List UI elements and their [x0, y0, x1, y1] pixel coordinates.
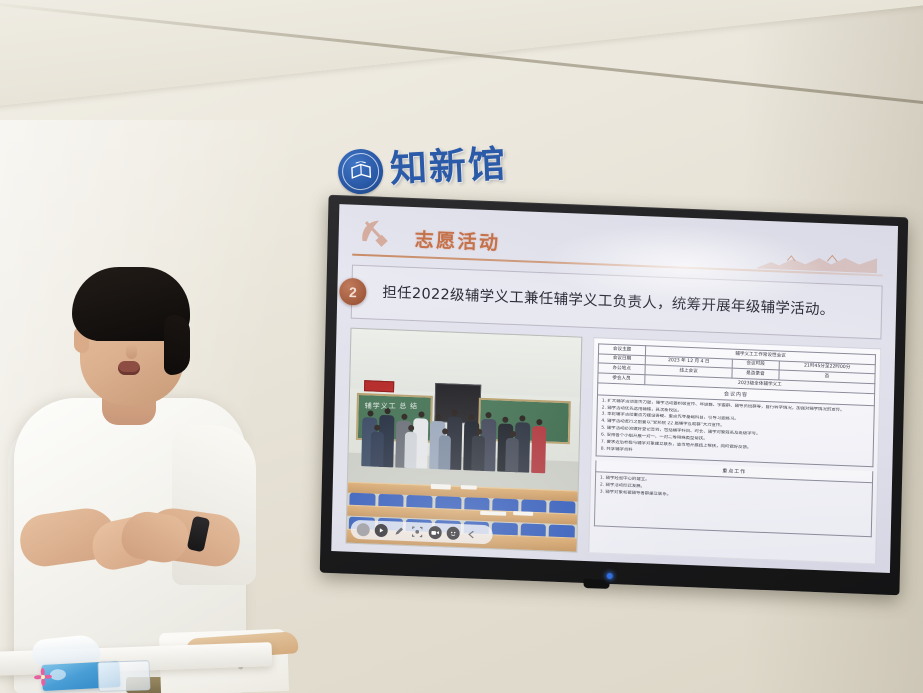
- display-ir-sensor: [583, 579, 609, 589]
- exit-sign-icon: [364, 381, 394, 393]
- classroom-scene: 知新馆 志愿活动: [0, 0, 923, 693]
- meeting-minutes-document: 会议主题 辅学义工工作常设性会议 会议日期 2023 年 12 月 4 日 会议…: [588, 337, 881, 564]
- bullet-text: 担任2022级辅学义工兼任辅学义工负责人，统筹开展年级辅学活动。: [382, 283, 835, 320]
- display-bezel: 志愿活动 2 担任2022级辅学义工兼任辅学义工负责人，统筹开展年级辅学活动。: [320, 195, 909, 596]
- power-led-indicator: [607, 573, 613, 579]
- classroom-group-photo: 辅学义工 总 结: [345, 328, 582, 553]
- open-book-icon: [349, 161, 372, 182]
- display-screen[interactable]: 志愿活动 2 担任2022级辅学义工兼任辅学义工负责人，统筹开展年级辅学活动。: [331, 204, 898, 573]
- emoji-icon[interactable]: [447, 527, 460, 541]
- slide-body: 辅学义工 总 结: [345, 328, 881, 565]
- podium-desk: [0, 615, 290, 693]
- play-icon[interactable]: [375, 524, 388, 538]
- presenter-hands: [92, 513, 200, 575]
- plastic-bag: [97, 660, 150, 692]
- pen-icon[interactable]: [393, 524, 406, 538]
- presenter-mouth: [118, 361, 140, 375]
- share-icon[interactable]: [465, 527, 478, 541]
- bullet-number-badge: 2: [339, 278, 367, 306]
- circle-handle-icon[interactable]: [357, 523, 370, 537]
- flower-graphic-icon: [34, 668, 53, 687]
- library-emblem-icon: [337, 148, 384, 195]
- crop-screenshot-icon[interactable]: [411, 525, 424, 539]
- video-camera-icon[interactable]: [429, 526, 442, 540]
- ceiling: [0, 0, 923, 150]
- bullet-callout: 2 担任2022级辅学义工兼任辅学义工负责人，统筹开展年级辅学活动。: [351, 265, 883, 340]
- keywork-list: 1. 辅学经验中心的建立。 2. 辅学活动形式发展。 3. 辅学对象和被辅导者群…: [594, 473, 873, 538]
- party-hammer-sickle-emblem-icon: [356, 215, 391, 248]
- interactive-display[interactable]: 志愿活动 2 担任2022级辅学义工兼任辅学义工负责人，统筹开展年级辅学活动。: [320, 195, 909, 596]
- presenter-hair-side: [164, 315, 190, 375]
- slide-title: 志愿活动: [414, 225, 501, 255]
- content-list: 1. 扩大辅学活动宣传力度，辅学活动要积极宣传、年级群、学委群、辅导员班群等，自…: [596, 395, 875, 468]
- slide: 志愿活动 2 担任2022级辅学义工兼任辅学义工负责人，统筹开展年级辅学活动。: [331, 204, 898, 573]
- wall-sign: 知新馆: [337, 133, 520, 203]
- presenter-nose: [126, 344, 137, 359]
- room-name-text: 知新馆: [389, 146, 508, 188]
